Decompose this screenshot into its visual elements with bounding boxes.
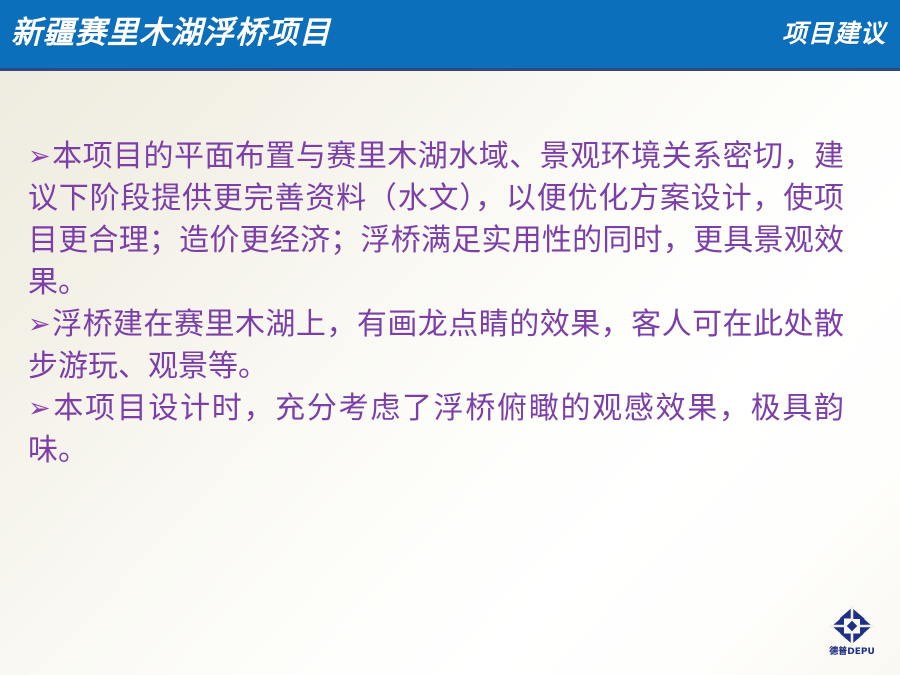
bullet-arrow-icon: ➢ [28,304,51,346]
bullet-paragraph-2: ➢浮桥建在赛里木湖上，有画龙点睛的效果，客人可在此处散步游玩、观景等。 [28,304,844,388]
header: 新疆赛里木湖浮桥项目 项目建议 [0,0,900,68]
page-title: 新疆赛里木湖浮桥项目 [11,12,331,54]
section-label: 项目建议 [782,17,886,51]
header-underline-rule [0,68,900,71]
bullet-text-1: 本项目的平面布置与赛里木湖水域、景观环境关系密切，建议下阶段提供更完善资料（水文… [28,139,844,300]
slide: 新疆赛里木湖浮桥项目 项目建议 ➢本项目的平面布置与赛里木湖水域、景观环境关系密… [0,0,900,675]
depu-pinwheel-icon [830,606,874,646]
bullet-arrow-icon: ➢ [28,388,51,430]
bullet-paragraph-1: ➢本项目的平面布置与赛里木湖水域、景观环境关系密切，建议下阶段提供更完善资料（水… [28,136,844,304]
bullet-text-2: 浮桥建在赛里木湖上，有画龙点睛的效果，客人可在此处散步游玩、观景等。 [28,307,844,384]
bullet-text-3: 本项目设计时，充分考虑了浮桥俯瞰的观感效果，极具韵味。 [28,391,844,468]
logo-wordmark: 德普DEPU [820,647,884,658]
bullet-arrow-icon: ➢ [28,136,51,178]
bullet-paragraph-3: ➢本项目设计时，充分考虑了浮桥俯瞰的观感效果，极具韵味。 [28,388,844,472]
content-body: ➢本项目的平面布置与赛里木湖水域、景观环境关系密切，建议下阶段提供更完善资料（水… [28,136,844,472]
company-logo: 德普DEPU [820,606,884,664]
